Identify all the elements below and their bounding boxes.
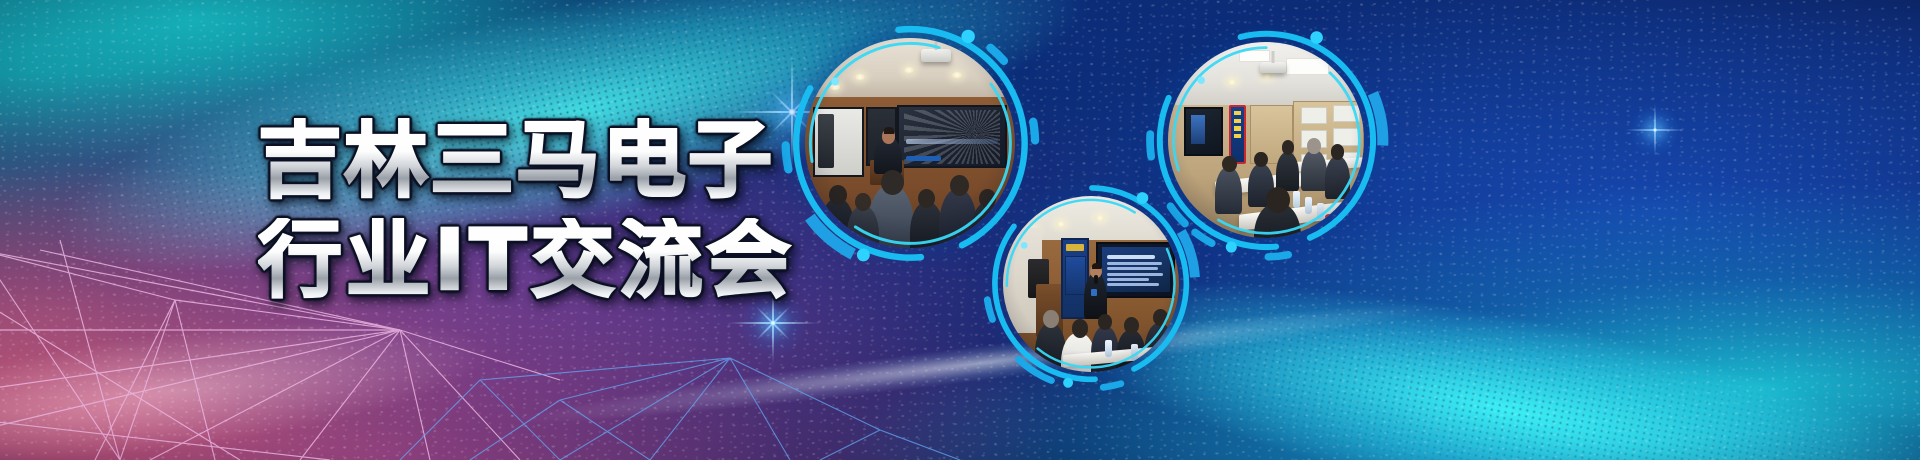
- tech-ring-speaker-mic: [978, 171, 1203, 396]
- photo-medallion-speaker-mic[interactable]: [1003, 196, 1179, 372]
- title-line-2: 行业IT交流会: [258, 218, 795, 302]
- page-title: 吉林三马电子 行业IT交流会: [258, 118, 795, 302]
- banner-root: 吉林三马电子 行业IT交流会: [0, 0, 1920, 460]
- title-line-1: 吉林三马电子: [258, 118, 795, 202]
